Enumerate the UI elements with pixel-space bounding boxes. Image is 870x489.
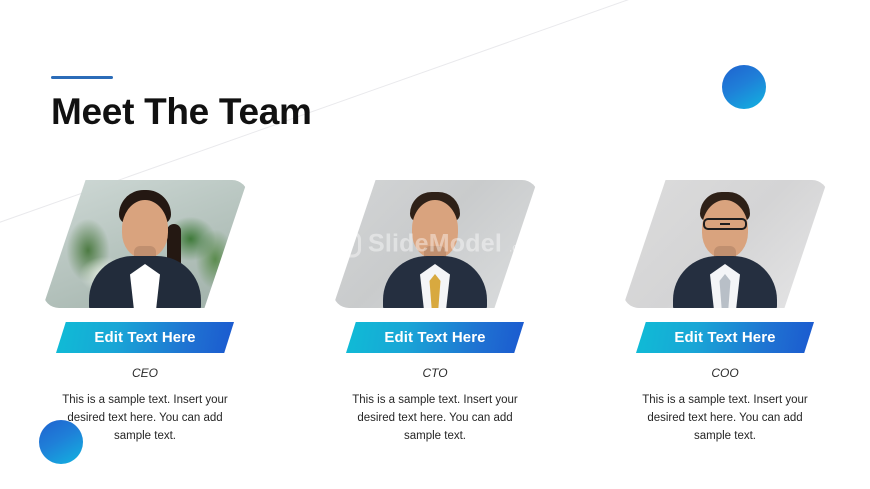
team-member-card: Edit Text Here COO This is a sample text…: [580, 180, 870, 445]
member-photo: SlideModel .com: [333, 180, 538, 308]
member-role: COO: [711, 366, 738, 380]
edit-text-button[interactable]: Edit Text Here: [636, 322, 814, 353]
slide-header: Meet The Team: [51, 76, 312, 130]
glasses-icon: [703, 218, 747, 230]
team-member-card: Edit Text Here CEO This is a sample text…: [0, 180, 290, 445]
member-role: CEO: [132, 366, 158, 380]
team-member-card: SlideModel .com Edit Text Here CTO This …: [290, 180, 580, 445]
member-description: This is a sample text. Insert your desir…: [637, 392, 813, 445]
member-photo: [43, 180, 248, 308]
person-illustration: [43, 180, 248, 308]
member-description: This is a sample text. Insert your desir…: [57, 392, 233, 445]
slide-canvas: Meet The Team Edit Text: [0, 0, 870, 489]
edit-text-button-label: Edit Text Here: [674, 329, 775, 346]
team-cards-row: Edit Text Here CEO This is a sample text…: [0, 180, 870, 445]
person-illustration: [623, 180, 828, 308]
decorative-circle-top-right: [722, 65, 766, 109]
edit-text-button-label: Edit Text Here: [94, 329, 195, 346]
edit-text-button[interactable]: Edit Text Here: [56, 322, 234, 353]
edit-text-button[interactable]: Edit Text Here: [346, 322, 524, 353]
member-photo-shape: [623, 180, 828, 308]
member-photo-shape: [333, 180, 538, 308]
member-role: CTO: [422, 366, 447, 380]
member-photo: [623, 180, 828, 308]
person-illustration: [333, 180, 538, 308]
title-accent-rule: [51, 76, 113, 79]
page-title: Meet The Team: [51, 93, 312, 130]
member-photo-shape: [43, 180, 248, 308]
member-description: This is a sample text. Insert your desir…: [347, 392, 523, 445]
edit-text-button-label: Edit Text Here: [384, 329, 485, 346]
